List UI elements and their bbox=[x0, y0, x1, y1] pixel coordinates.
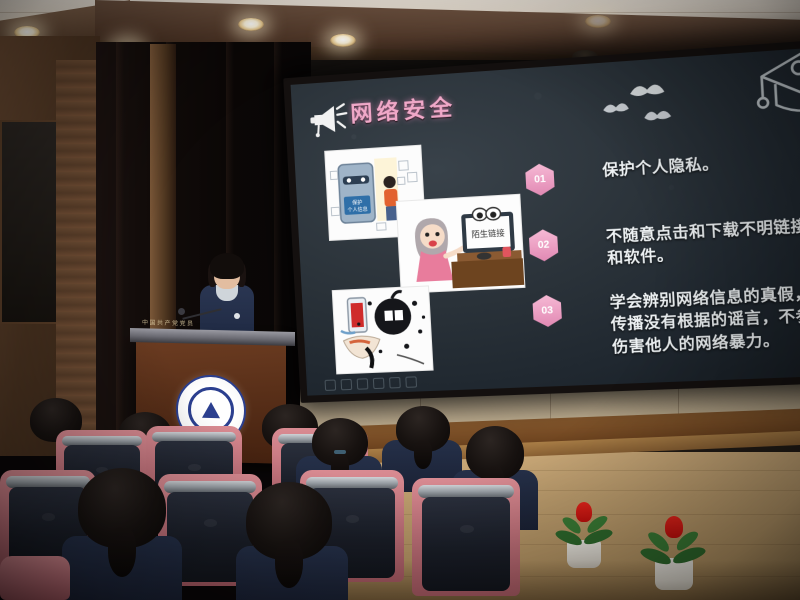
next-icon[interactable] bbox=[357, 378, 369, 390]
play-icon[interactable] bbox=[325, 379, 337, 390]
slide-image-stranger-link: 陌生链接 bbox=[396, 194, 526, 294]
slides-icon[interactable] bbox=[389, 377, 401, 389]
audience-head-front bbox=[246, 482, 332, 560]
slide-canvas[interactable]: 网络安全 bbox=[291, 47, 800, 395]
presenter-badge bbox=[234, 313, 240, 319]
slide-image-rumor bbox=[332, 285, 434, 374]
plant-flower bbox=[576, 502, 592, 522]
more-icon[interactable] bbox=[405, 376, 417, 388]
auditorium-scene: 网络安全 bbox=[0, 0, 800, 600]
bullet-number-badge: 03 bbox=[532, 294, 562, 327]
plant-flower bbox=[665, 516, 683, 538]
audience-head bbox=[466, 426, 524, 480]
bullet-number-badge: 02 bbox=[529, 229, 559, 262]
bullet-number-badge: 01 bbox=[525, 163, 555, 196]
audience-head-front bbox=[78, 468, 166, 548]
ponytail bbox=[108, 527, 136, 577]
ponytail bbox=[275, 540, 303, 588]
seat[interactable] bbox=[0, 556, 70, 600]
slide-title: 网络安全 bbox=[349, 89, 457, 128]
left-wall-panel bbox=[0, 120, 60, 324]
birds-icon bbox=[577, 51, 743, 155]
podium-plaque: 中国共产党党员 bbox=[142, 317, 195, 327]
microphone-icon bbox=[178, 308, 185, 315]
pen-icon[interactable] bbox=[373, 378, 385, 390]
bromeliad-plant-left bbox=[555, 498, 615, 568]
downlight-icon bbox=[585, 15, 611, 28]
downlight-icon bbox=[330, 34, 356, 47]
svg-text:个人信息: 个人信息 bbox=[347, 206, 367, 214]
presenter-hair bbox=[210, 253, 244, 279]
ponytail bbox=[414, 440, 431, 469]
graduation-cap-icon bbox=[739, 47, 800, 138]
projection-screen[interactable]: 网络安全 bbox=[283, 39, 800, 402]
bromeliad-plant-right bbox=[640, 512, 706, 590]
downlight-icon bbox=[238, 18, 264, 31]
megaphone-icon bbox=[309, 99, 351, 138]
svg-text:保护: 保护 bbox=[352, 199, 362, 207]
seat[interactable] bbox=[412, 478, 520, 596]
emblem-star-icon bbox=[202, 402, 220, 418]
bullet-text: 学会辨别网络信息的真假，不 传播没有根据的谣言，不参与 伤害他人的网络暴力。 bbox=[609, 282, 800, 358]
prev-icon[interactable] bbox=[341, 379, 353, 390]
slide-bullet-03: 03 学会辨别网络信息的真假，不 传播没有根据的谣言，不参与 伤害他人的网络暴力… bbox=[532, 282, 800, 361]
svg-text:陌生链接: 陌生链接 bbox=[471, 227, 505, 239]
audience-head bbox=[396, 406, 450, 452]
audience-head bbox=[312, 418, 368, 466]
